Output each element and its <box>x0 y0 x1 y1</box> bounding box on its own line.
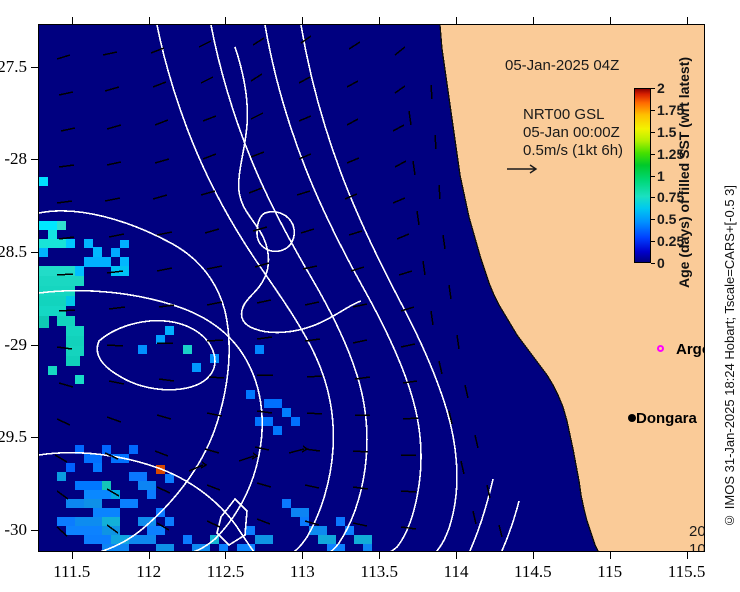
x-tick-mark-top <box>225 17 226 24</box>
x-tick-mark-top <box>302 17 303 24</box>
dongara-label: Dongara <box>636 410 697 427</box>
colorbar-gradient <box>634 88 651 263</box>
bathymetry-contours <box>39 25 519 552</box>
x-tick-mark <box>225 552 226 559</box>
colorbar-tick-label: 1.75 <box>657 102 684 118</box>
x-tick-mark <box>610 552 611 559</box>
x-tick-mark-top <box>533 17 534 24</box>
x-tick-mark-top <box>610 17 611 24</box>
product-label-line3: 0.5m/s (1kt 6h) <box>523 142 623 159</box>
colorbar-tick-label: 0.5 <box>657 211 676 227</box>
colorbar-tick-mark <box>651 88 655 89</box>
product-label-line2: 05-Jan 00:00Z <box>523 124 620 141</box>
y-tick-mark <box>31 530 38 531</box>
product-label-line1: NRT00 GSL <box>523 106 604 123</box>
depth-legend-200m: 200m <box>689 523 705 540</box>
colorbar-tick-mark <box>651 154 655 155</box>
datetime-stamp: 05-Jan-2025 04Z <box>505 57 619 74</box>
y-tick-label: -30 <box>4 520 27 540</box>
depth-legend-1000m: 1000m <box>689 541 705 552</box>
x-tick-label: 115.5 <box>668 562 706 582</box>
colorbar-tick-label: 1.5 <box>657 124 676 140</box>
x-tick-label: 114 <box>444 562 469 582</box>
x-tick-label: 115 <box>597 562 622 582</box>
x-tick-label: 114.5 <box>514 562 552 582</box>
colorbar-tick-label: 0.75 <box>657 189 684 205</box>
colorbar-tick-label: 2 <box>657 80 665 96</box>
x-tick-mark-top <box>72 17 73 24</box>
figure-root: 05-Jan-2025 04Z NRT00 GSL 05-Jan 00:00Z … <box>0 0 740 592</box>
map-graphics <box>39 25 705 552</box>
colorbar-tick-label: 1.25 <box>657 146 684 162</box>
x-tick-label: 112.5 <box>207 562 245 582</box>
y-tick-mark <box>31 345 38 346</box>
colorbar-tick-label: 0.25 <box>657 233 684 249</box>
x-tick-label: 111.5 <box>53 562 90 582</box>
colorbar-tick-mark <box>651 197 655 198</box>
x-tick-mark <box>379 552 380 559</box>
x-tick-mark <box>687 552 688 559</box>
x-tick-mark-top <box>687 17 688 24</box>
y-tick-label: -27.5 <box>0 57 27 77</box>
colorbar-tick-mark <box>651 132 655 133</box>
map-canvas <box>39 25 704 551</box>
x-tick-mark-top <box>149 17 150 24</box>
x-tick-mark <box>72 552 73 559</box>
x-tick-label: 113 <box>290 562 315 582</box>
colorbar-tick-mark <box>651 219 655 220</box>
colorbar-tick-label: 0 <box>657 255 665 271</box>
colorbar-title: Age (days) of filled SST (wrt latest) <box>676 64 698 288</box>
x-tick-mark-top <box>379 17 380 24</box>
y-tick-label: -28.5 <box>0 242 27 262</box>
map-plot-area[interactable]: 05-Jan-2025 04Z NRT00 GSL 05-Jan 00:00Z … <box>38 24 705 552</box>
y-tick-label: -28 <box>4 149 27 169</box>
credit-text: © IMOS 31-Jan-2025 18:24 Hobart; Tscale=… <box>722 185 737 528</box>
y-tick-mark <box>31 159 38 160</box>
y-tick-label: -29.5 <box>0 427 27 447</box>
argo-marker-icon <box>657 345 664 352</box>
colorbar-tick-mark <box>651 263 655 264</box>
dongara-station-dot-icon <box>628 414 636 422</box>
y-tick-mark <box>31 67 38 68</box>
x-tick-label: 113.5 <box>360 562 398 582</box>
y-tick-label: -29 <box>4 335 27 355</box>
colorbar-tick-label: 1 <box>657 168 665 184</box>
colorbar-tick-mark <box>651 110 655 111</box>
x-tick-mark <box>533 552 534 559</box>
colorbar-tick-mark <box>651 176 655 177</box>
colorbar-tick-mark <box>651 241 655 242</box>
x-tick-mark-top <box>456 17 457 24</box>
x-tick-mark <box>456 552 457 559</box>
x-tick-mark <box>302 552 303 559</box>
argo-legend-label: Argo <box>676 341 705 358</box>
y-tick-mark <box>31 252 38 253</box>
x-tick-label: 112 <box>136 562 161 582</box>
y-tick-mark <box>31 437 38 438</box>
x-tick-mark <box>149 552 150 559</box>
reference-arrow-icon <box>505 162 545 176</box>
